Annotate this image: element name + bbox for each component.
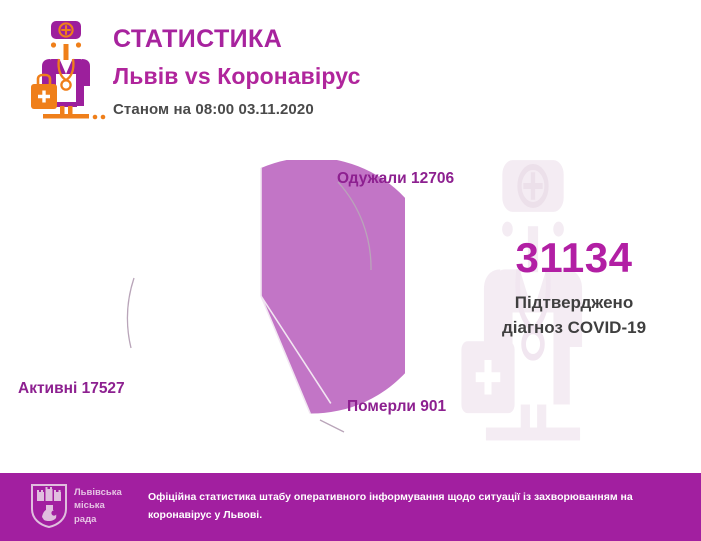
confirmed-cases-stat: 31134 Підтверджено діагноз COVID-19 bbox=[450, 236, 698, 340]
as-of-date: Станом на 08:00 03.11.2020 bbox=[113, 101, 360, 118]
lviv-city-council-logo: Львівська міська рада bbox=[30, 483, 132, 529]
pie-label-recovered: Одужали 12706 bbox=[337, 170, 454, 188]
confirmed-cases-number: 31134 bbox=[450, 236, 698, 280]
header: СТАТИСТИКА Львів vs Коронавірус Станом н… bbox=[0, 0, 701, 140]
confirmed-cases-caption: Підтверджено діагноз COVID-19 bbox=[450, 291, 698, 340]
pie-label-active: Активні 17527 bbox=[18, 380, 125, 398]
logo-line-3: рада bbox=[74, 513, 122, 526]
lviv-city-council-label: Львівська міська рада bbox=[74, 486, 122, 526]
doctor-icon bbox=[22, 14, 110, 126]
logo-line-1: Львівська bbox=[74, 486, 122, 499]
lviv-coat-of-arms-icon bbox=[30, 483, 68, 528]
pie-chart bbox=[125, 160, 405, 438]
infographic-root: СТАТИСТИКА Львів vs Коронавірус Станом н… bbox=[0, 0, 701, 541]
page-title: СТАТИСТИКА bbox=[113, 24, 360, 55]
confirmed-caption-line-1: Підтверджено bbox=[450, 291, 698, 316]
page-subtitle: Львів vs Коронавірус bbox=[113, 59, 360, 94]
pie-slice-active[interactable] bbox=[261, 160, 405, 414]
header-text-group: СТАТИСТИКА Львів vs Коронавірус Станом н… bbox=[113, 24, 360, 118]
confirmed-caption-line-2: діагноз COVID-19 bbox=[450, 316, 698, 341]
pie-label-died: Померли 901 bbox=[347, 398, 446, 416]
logo-line-2: міська bbox=[74, 499, 122, 512]
footer-disclaimer-text: Офіційна статистика штабу оперативного і… bbox=[148, 488, 668, 525]
